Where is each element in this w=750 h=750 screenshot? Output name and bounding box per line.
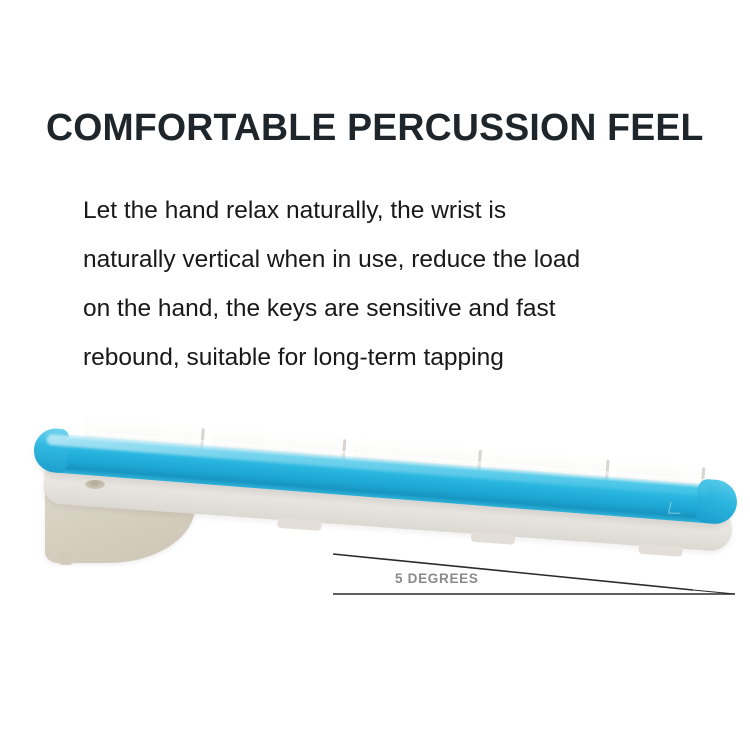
angle-wedge-diagram	[325, 540, 745, 610]
keyboard-foot-nub	[58, 553, 74, 565]
keyboard-screw-hole	[85, 480, 105, 489]
description-line-2: naturally vertical when in use, reduce t…	[83, 235, 683, 284]
angle-upper-line	[333, 554, 693, 590]
chassis-tab	[277, 518, 322, 531]
description-line-3: on the hand, the keys are sensitive and …	[83, 284, 683, 333]
brand-mark-icon	[668, 502, 683, 514]
description-line-1: Let the hand relax naturally, the wrist …	[83, 186, 683, 235]
angle-label: 5 DEGREES	[395, 571, 479, 586]
description-line-4: rebound, suitable for long-term tapping	[83, 333, 683, 382]
page-title: COMFORTABLE PERCUSSION FEEL	[46, 107, 726, 149]
product-feature-panel: COMFORTABLE PERCUSSION FEEL Let the hand…	[0, 0, 750, 750]
description-paragraph: Let the hand relax naturally, the wrist …	[83, 186, 683, 382]
